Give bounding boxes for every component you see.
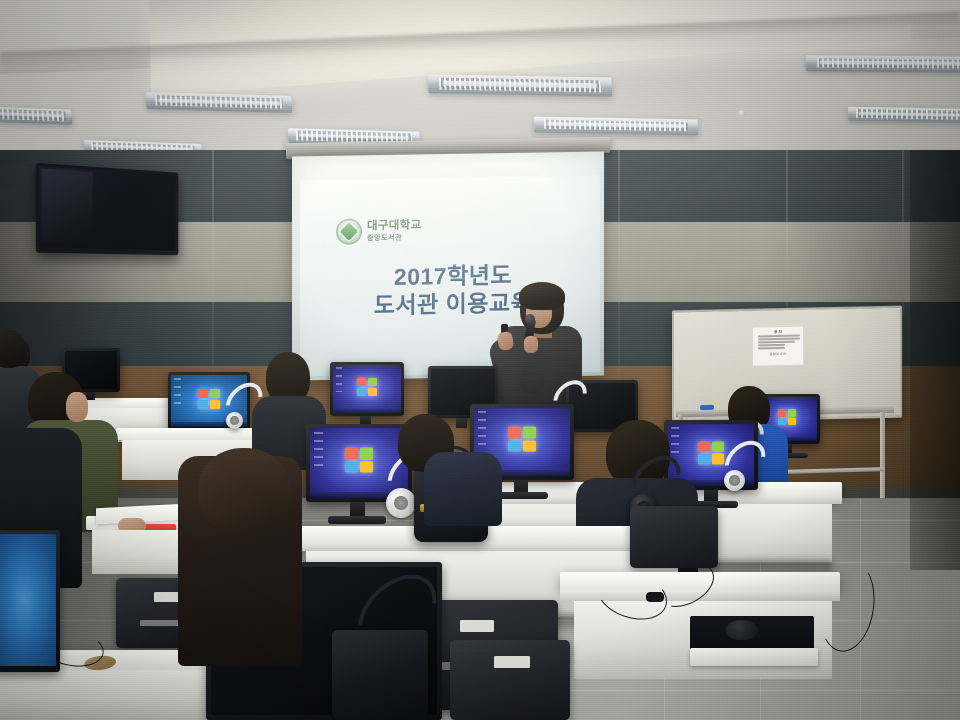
student-head: [0, 330, 26, 368]
monitor-screen: [333, 365, 401, 413]
monitor-stand: [86, 392, 95, 400]
monitor[interactable]: [0, 530, 60, 672]
chair[interactable]: [630, 506, 718, 568]
wall-tv[interactable]: [36, 163, 179, 255]
chair[interactable]: [450, 640, 570, 720]
presenter-hair: [519, 282, 565, 310]
mouse-icon[interactable]: [726, 620, 758, 640]
ceiling-light-fixture: [806, 55, 960, 73]
student-torso: [424, 452, 502, 526]
classroom-photo: 대구대학교 중앙도서관 2017학년도 도서관 이용교육 공 지 중앙도서관: [0, 0, 960, 720]
ceiling-light-fixture: [428, 74, 613, 96]
headphone-cup-icon: [226, 412, 243, 429]
monitor-stand: [456, 418, 467, 428]
ceiling-light-fixture: [0, 106, 72, 124]
handbag: [332, 630, 428, 720]
ceiling-light-fixture: [848, 107, 960, 123]
desk-edge: [296, 542, 686, 551]
whiteboard-notice: 공 지 중앙도서관: [752, 325, 804, 366]
headphone-cup-icon: [386, 488, 416, 518]
whiteboard-leg: [880, 412, 885, 504]
headphone-cup-icon: [724, 470, 745, 491]
notice-footer: 중앙도서관: [756, 351, 800, 356]
notice-title: 공 지: [756, 329, 800, 335]
monitor-screen: [0, 534, 56, 666]
microphone-head-icon: [525, 314, 535, 324]
tv-screen-glare: [42, 169, 92, 243]
smoke-detector-icon: [737, 110, 746, 116]
cable-connector-icon: [646, 592, 664, 602]
column-edge: [910, 150, 960, 570]
whiteboard-marker-icon: [700, 405, 714, 410]
desk-drawer-front[interactable]: [690, 648, 818, 666]
student-head: [198, 448, 290, 532]
monitor-base: [328, 516, 386, 524]
monitor[interactable]: [330, 362, 404, 416]
presenter-right-hand: [524, 336, 538, 353]
ceiling-light-fixture: [534, 117, 698, 136]
student-face: [66, 392, 88, 422]
monitor-base: [494, 492, 548, 499]
